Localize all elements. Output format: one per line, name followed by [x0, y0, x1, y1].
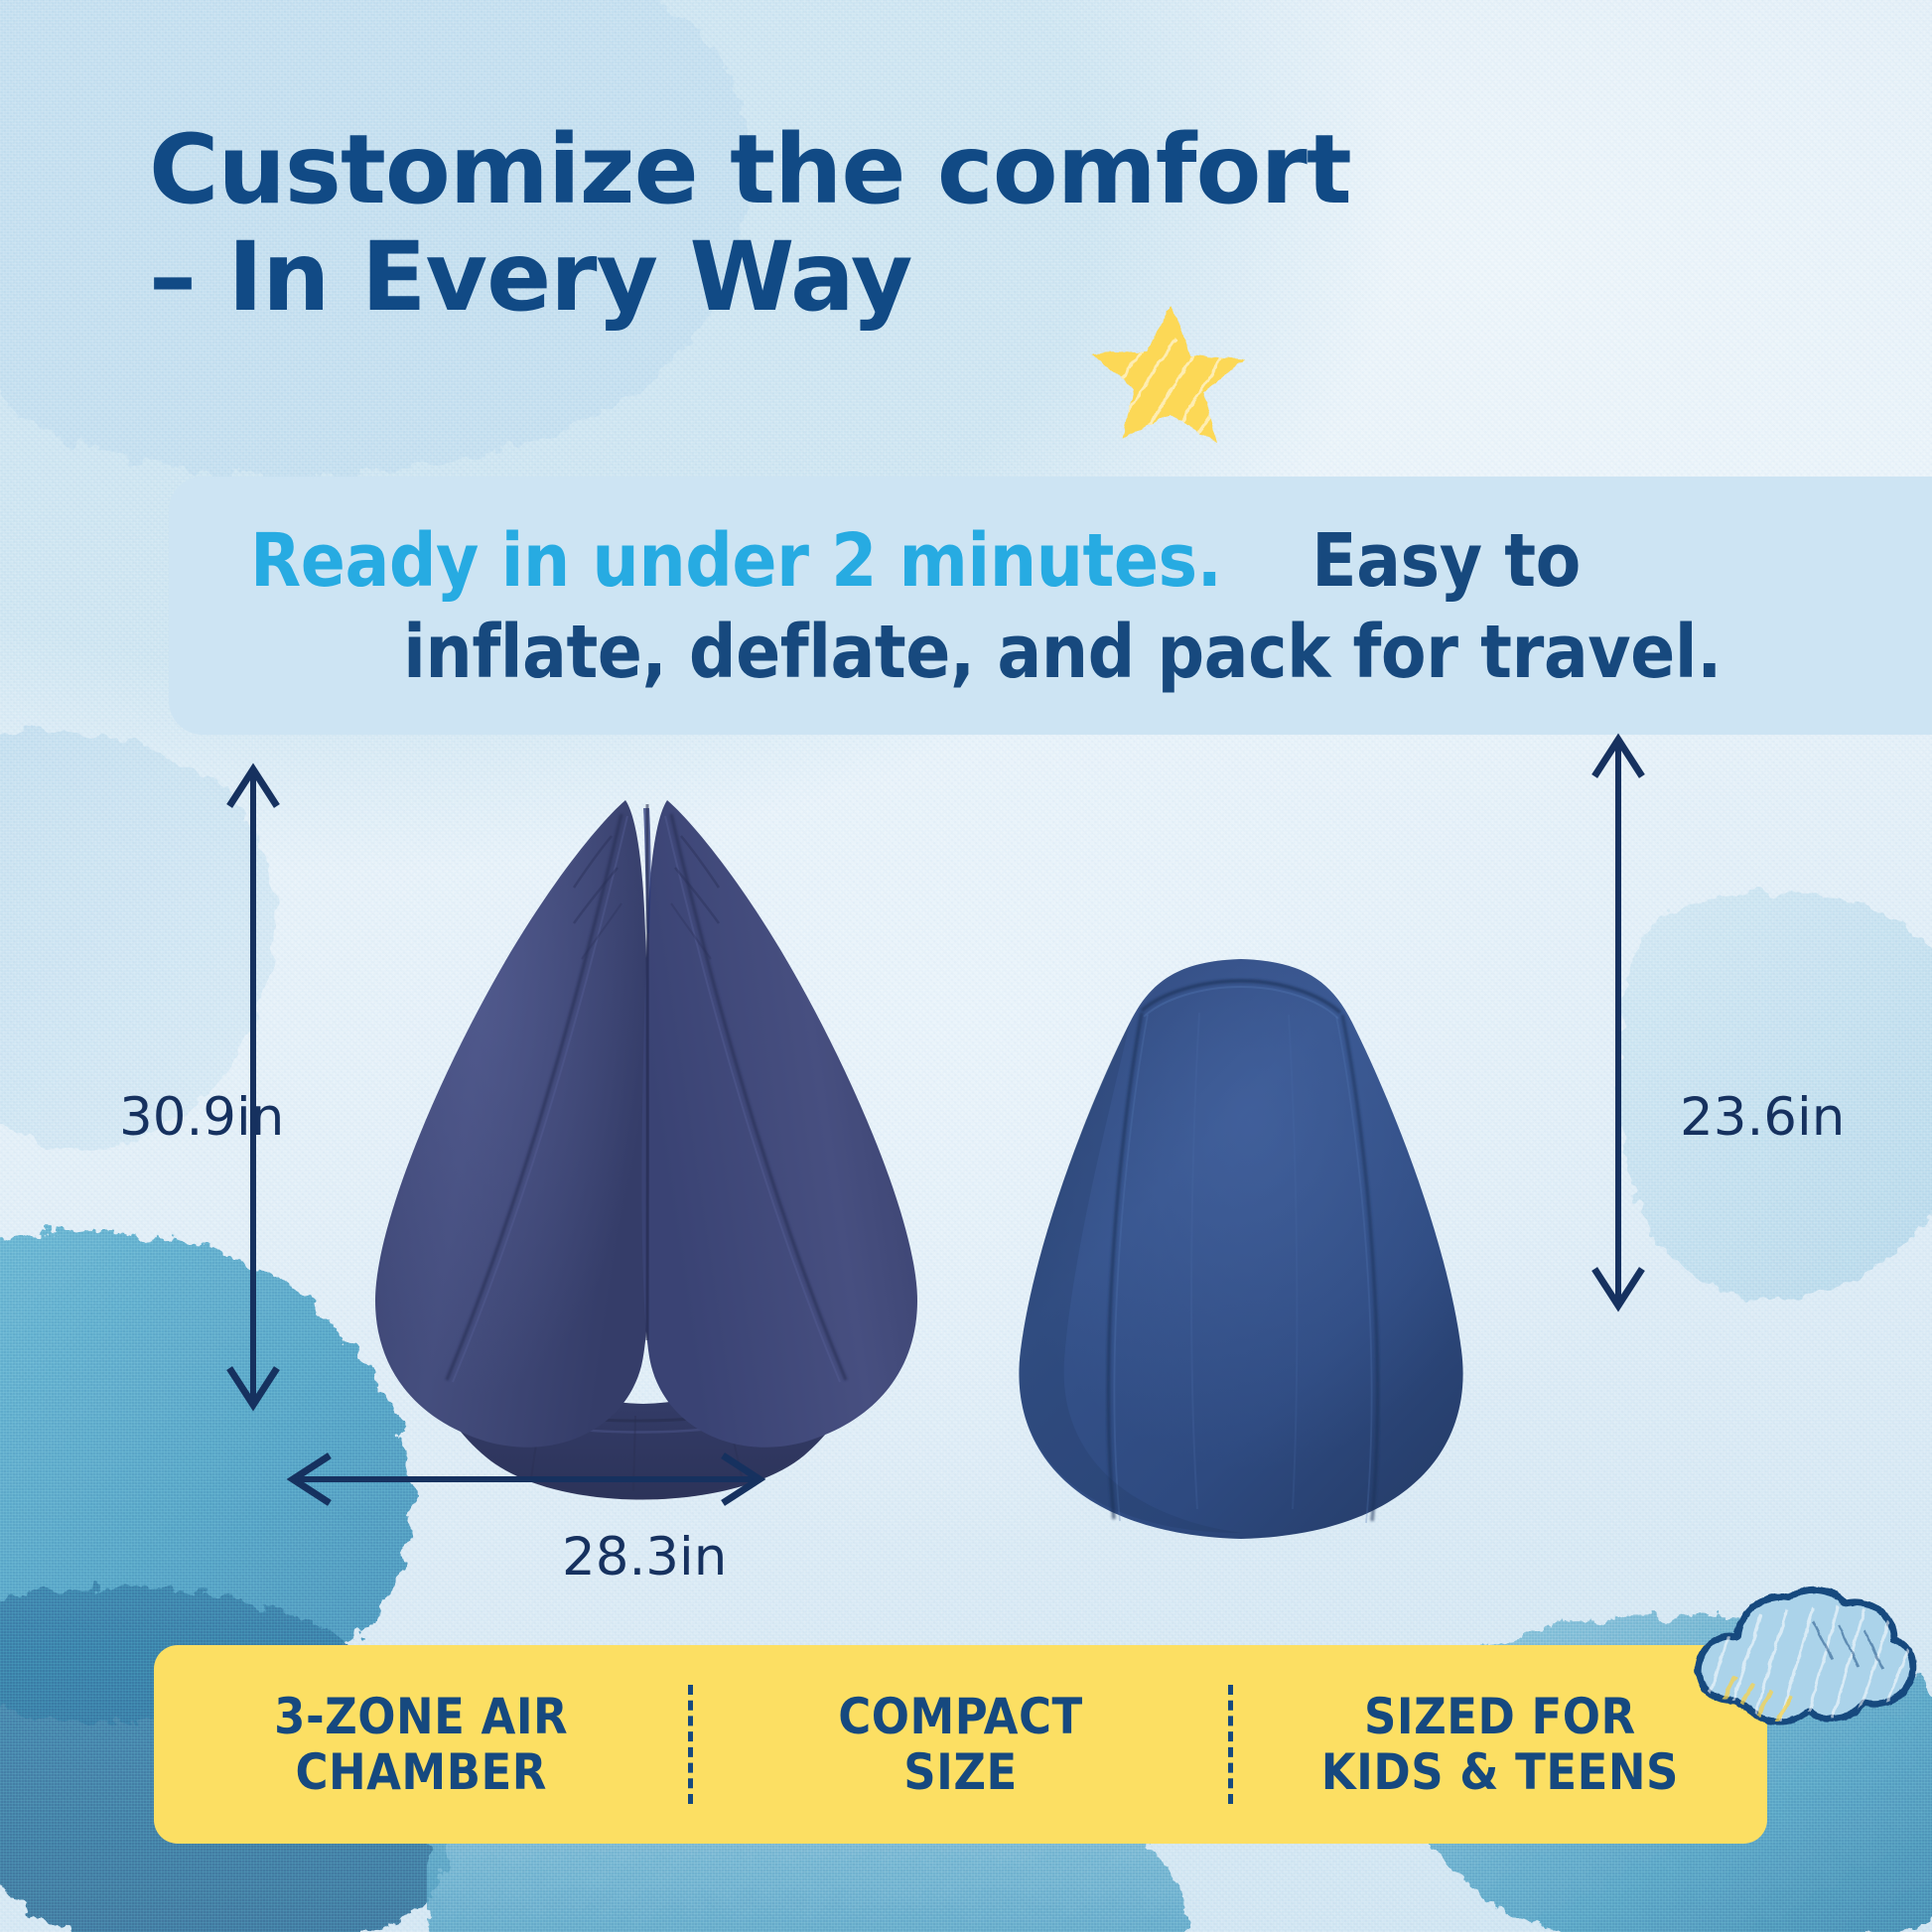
feature-item-compact-size: COMPACT SIZE [693, 1689, 1227, 1800]
dimension-line-width-bottom [283, 1449, 769, 1509]
feature-highlight-bar: 3-ZONE AIR CHAMBER COMPACT SIZE SIZED FO… [154, 1645, 1767, 1844]
subtitle-line-1: Ready in under 2 minutes. Easy to [250, 524, 1859, 598]
star-doodle-icon [1084, 294, 1253, 443]
product-image-area [0, 764, 1932, 1588]
subtitle-line-2: inflate, deflate, and pack for travel. [228, 616, 1896, 689]
dimension-line-height-right [1588, 730, 1648, 1315]
subtitle-highlight: Ready in under 2 minutes. [250, 518, 1221, 604]
feature-item-air-chamber: 3-ZONE AIR CHAMBER [154, 1689, 688, 1800]
product-image-covered-pillow [1003, 953, 1479, 1559]
subtitle-rest: Easy to [1311, 518, 1581, 604]
dimension-label-height-right: 23.6in [1680, 1087, 1845, 1148]
product-image-open-pillow [328, 784, 963, 1529]
dimension-label-height-left: 30.9in [119, 1087, 284, 1148]
dimension-label-width-bottom: 28.3in [562, 1527, 727, 1587]
page-title: Customize the comfort – In Every Way [149, 117, 1539, 331]
subtitle-band: Ready in under 2 minutes. Easy to inflat… [169, 477, 1932, 735]
infographic-canvas: Customize the comfort – In Every Way [0, 0, 1932, 1932]
cloud-doodle-icon [1684, 1582, 1922, 1755]
